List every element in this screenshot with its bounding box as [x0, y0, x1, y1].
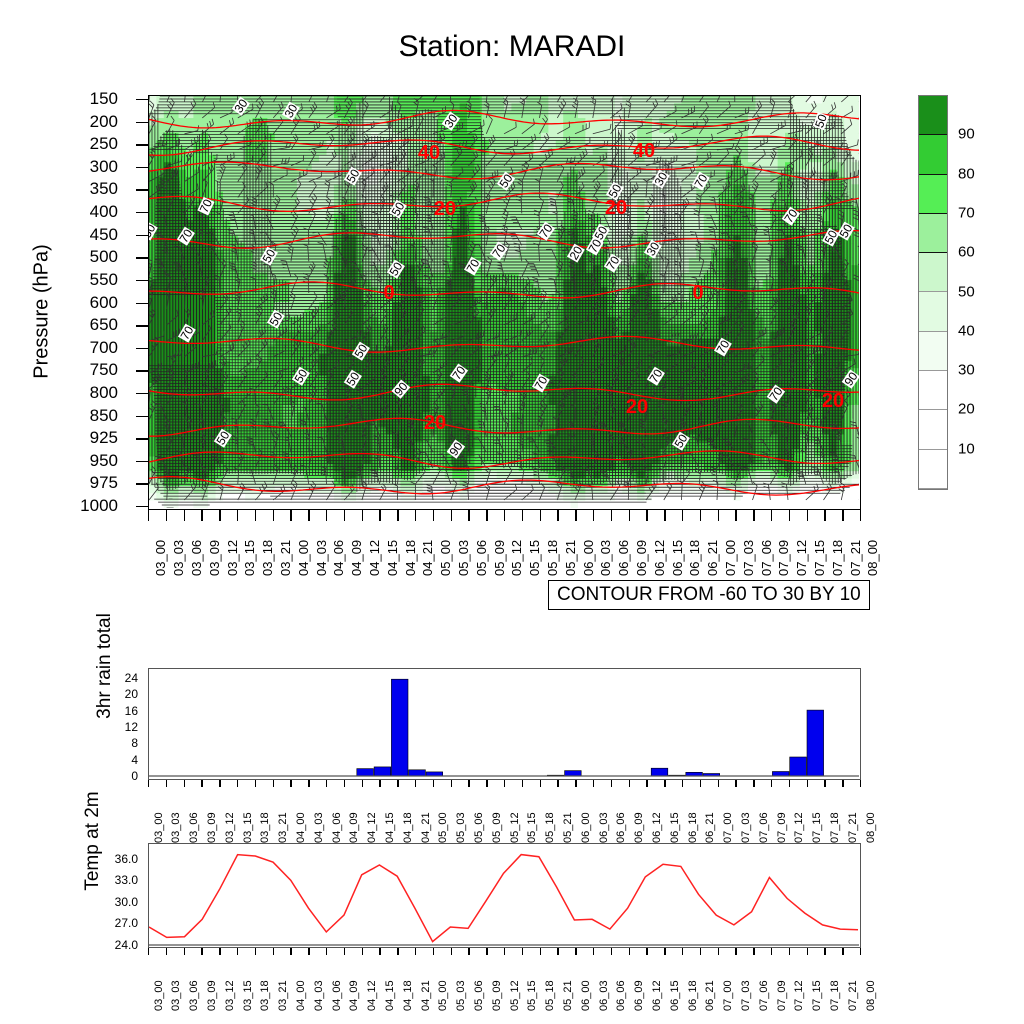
rain-canvas [149, 669, 859, 778]
x-tickmark [237, 510, 238, 521]
x-tickmark [771, 948, 772, 955]
x-axis-tick-label: 05_03 [455, 812, 467, 843]
x-tickmark [433, 948, 434, 955]
x-tickmark [326, 780, 327, 787]
y-axis-tick-label: 700 [60, 338, 118, 358]
contour-range-note: CONTOUR FROM -60 TO 30 BY 10 [548, 580, 870, 610]
x-axis-tick-label: 05_21 [562, 812, 574, 843]
colorbar-tick-label: 70 [958, 204, 975, 221]
x-axis-tick-label: 07_00 [722, 980, 734, 1011]
temperature-contour-label: 0 [691, 283, 704, 303]
x-axis-tick-label: 06_21 [704, 812, 716, 843]
x-tickmark [824, 510, 825, 521]
x-tickmark [664, 948, 665, 955]
main-x-tickmarks [148, 510, 861, 522]
x-tickmark [575, 948, 576, 955]
x-axis-tick-label: 04_18 [403, 540, 418, 576]
x-tickmark [646, 948, 647, 955]
x-tickmark [237, 780, 238, 787]
x-axis-tick-label: 07_00 [722, 812, 734, 843]
x-axis-tick-label: 07_09 [776, 980, 788, 1011]
colorbar-segment [919, 292, 947, 331]
x-axis-tick-label: 08_00 [865, 812, 877, 843]
x-axis-tick-label: 03_15 [242, 812, 254, 843]
x-axis-tick-label: 06_15 [670, 540, 685, 576]
x-axis-tick-label: 03_06 [188, 980, 200, 1011]
colorbar-tick-label: 40 [958, 322, 975, 339]
x-axis-tick-label: 04_21 [420, 812, 432, 843]
x-tickmark [753, 948, 754, 955]
x-axis-tick-label: 08_00 [865, 540, 880, 576]
x-tickmark [718, 510, 719, 521]
x-tickmark [326, 510, 327, 521]
x-tickmark [522, 510, 523, 521]
x-axis-tick-label: 05_21 [563, 540, 578, 576]
x-axis-tick-label: 04_00 [295, 980, 307, 1011]
x-tickmark [789, 780, 790, 787]
x-tickmark [664, 780, 665, 787]
x-axis-tick-label: 03_12 [224, 812, 236, 843]
x-axis-tick-label: 04_18 [402, 812, 414, 843]
x-tickmark [379, 780, 380, 787]
x-axis-tick-label: 05_09 [491, 980, 503, 1011]
x-axis-tick-label: 04_09 [349, 540, 364, 576]
y-tickmark [136, 506, 148, 507]
x-tickmark [629, 510, 630, 521]
x-tickmark [344, 780, 345, 787]
x-tickmark [700, 780, 701, 787]
x-tickmark [362, 780, 363, 787]
x-axis-tick-label: 03_03 [170, 812, 182, 843]
y-axis-tick-label: 200 [60, 112, 118, 132]
x-tickmark [842, 780, 843, 787]
x-axis-tick-label: 07_21 [847, 980, 859, 1011]
rain-y-axis-ticks: 04812162024 [100, 668, 138, 780]
x-tickmark [807, 948, 808, 955]
x-tickmark [468, 780, 469, 787]
x-axis-tick-label: 03_09 [206, 980, 218, 1011]
x-tickmark [451, 948, 452, 955]
x-axis-tick-label: 03_00 [153, 812, 165, 843]
colorbar-segment [919, 450, 947, 489]
x-tickmark [540, 780, 541, 787]
x-tickmark [379, 510, 380, 521]
y-axis-tick-label: 950 [60, 451, 118, 471]
x-tickmark [290, 948, 291, 955]
x-axis-tick-label: 05_12 [509, 812, 521, 843]
x-tickmark [148, 948, 149, 955]
x-tickmark [486, 510, 487, 521]
x-axis-tick-label: 06_21 [704, 980, 716, 1011]
x-tickmark [700, 510, 701, 521]
x-tickmark [273, 780, 274, 787]
x-axis-tick-label: 03_09 [207, 540, 222, 576]
x-axis-tick-label: 06_21 [705, 540, 720, 576]
x-axis-tick-label: 04_18 [402, 980, 414, 1011]
x-axis-tick-label: 04_06 [331, 812, 343, 843]
x-axis-tick-label: 07_15 [811, 812, 823, 843]
x-axis-tick-label: 06_12 [651, 980, 663, 1011]
x-axis-tick-label: 05_06 [473, 812, 485, 843]
x-axis-tick-label: 04_00 [296, 540, 311, 576]
y-tickmark [136, 189, 148, 190]
x-tickmark [415, 780, 416, 787]
x-tickmark [433, 780, 434, 787]
x-axis-tick-label: 05_06 [474, 540, 489, 576]
x-axis-tick-label: 06_06 [615, 812, 627, 843]
x-axis-tick-label: 07_03 [740, 812, 752, 843]
x-axis-tick-label: 04_03 [313, 812, 325, 843]
x-tickmark [486, 780, 487, 787]
y-axis-tick-label: 1000 [60, 496, 118, 516]
x-tickmark [397, 948, 398, 955]
x-axis-tick-label: 05_15 [526, 980, 538, 1011]
x-axis-tick-label: 03_00 [153, 980, 165, 1011]
x-axis-tick-label: 05_12 [509, 540, 524, 576]
x-axis-tick-label: 05_18 [545, 540, 560, 576]
x-axis-tick-label: 03_12 [225, 540, 240, 576]
x-tickmark [308, 948, 309, 955]
x-axis-tick-label: 07_12 [794, 540, 809, 576]
colorbar-segment [919, 371, 947, 410]
x-tickmark [201, 510, 202, 521]
y-axis-tick-label: 650 [60, 315, 118, 335]
x-axis-tick-label: 06_18 [687, 812, 699, 843]
y-axis-tick-label: 600 [60, 293, 118, 313]
x-axis-tick-label: 07_18 [829, 980, 841, 1011]
x-tickmark [451, 780, 452, 787]
x-axis-tick-label: 05_18 [544, 980, 556, 1011]
x-axis-tick-label: 07_09 [776, 540, 791, 576]
x-tickmark [735, 780, 736, 787]
x-axis-tick-label: 06_06 [615, 980, 627, 1011]
rain-y-tick-label: 12 [100, 720, 138, 734]
x-tickmark [504, 780, 505, 787]
x-axis-tick-label: 05_15 [527, 540, 542, 576]
x-tickmark [646, 780, 647, 787]
x-axis-tick-label: 04_15 [384, 812, 396, 843]
x-tickmark [148, 780, 149, 787]
x-tickmark [415, 510, 416, 521]
y-axis-tick-label: 300 [60, 157, 118, 177]
x-tickmark [718, 948, 719, 955]
x-axis-tick-label: 07_21 [847, 812, 859, 843]
x-axis-tick-label: 07_12 [793, 812, 805, 843]
x-axis-tick-label: 05_00 [437, 980, 449, 1011]
temp-y-tick-label: 33.0 [90, 873, 138, 887]
x-tickmark [290, 510, 291, 521]
x-tickmark [166, 510, 167, 521]
x-tickmark [504, 510, 505, 521]
rain-y-tick-label: 8 [100, 736, 138, 750]
page-title: Station: MARADI [0, 30, 1024, 64]
y-axis-tick-label: 250 [60, 134, 118, 154]
x-axis-tick-label: 03_18 [259, 812, 271, 843]
y-tickmark [136, 99, 148, 100]
x-tickmark [682, 510, 683, 521]
y-tickmark [136, 144, 148, 145]
x-axis-tick-label: 05_18 [544, 812, 556, 843]
x-axis-tick-label: 06_00 [581, 540, 596, 576]
y-axis-tick-label: 350 [60, 179, 118, 199]
colorbar-segment [919, 135, 947, 174]
rain-x-tickmarks [148, 780, 861, 790]
x-axis-tick-label: 06_06 [616, 540, 631, 576]
rain-y-tick-label: 4 [100, 753, 138, 767]
x-tickmark [522, 780, 523, 787]
x-tickmark [344, 948, 345, 955]
temperature-contour-label: 40 [417, 143, 441, 163]
x-tickmark [611, 780, 612, 787]
colorbar-tick-label: 50 [958, 283, 975, 300]
y-axis-tick-label: 450 [60, 225, 118, 245]
x-axis-tick-label: 07_18 [829, 812, 841, 843]
x-tickmark [308, 780, 309, 787]
x-tickmark [379, 948, 380, 955]
x-axis-tick-label: 07_00 [723, 540, 738, 576]
colorbar-segment [919, 96, 947, 135]
x-tickmark [557, 948, 558, 955]
x-axis-tick-label: 06_03 [598, 540, 613, 576]
temp-y-tick-label: 30.0 [90, 895, 138, 909]
x-tickmark [771, 510, 772, 521]
y-tickmark [136, 167, 148, 168]
y-tickmark [136, 416, 148, 417]
x-axis-tick-label: 07_06 [758, 980, 770, 1011]
y-tickmark [136, 325, 148, 326]
y-axis-tick-label: 800 [60, 383, 118, 403]
rain-y-tick-label: 20 [100, 687, 138, 701]
x-axis-tick-label: 07_21 [848, 540, 863, 576]
contour-canvas [149, 96, 859, 508]
x-tickmark [148, 510, 149, 521]
x-axis-tick-label: 07_03 [740, 980, 752, 1011]
x-tickmark [219, 780, 220, 787]
y-tickmark [136, 257, 148, 258]
rain-y-tick-label: 16 [100, 704, 138, 718]
y-axis-tick-label: 975 [60, 473, 118, 493]
x-tickmark [486, 948, 487, 955]
x-axis-tick-label: 08_00 [865, 980, 877, 1011]
x-tickmark [397, 780, 398, 787]
colorbar-segment [919, 175, 947, 214]
y-axis-tick-label: 850 [60, 406, 118, 426]
rain-bar-chart[interactable] [148, 668, 861, 780]
y-axis-tick-label: 500 [60, 247, 118, 267]
colorbar-segment [919, 253, 947, 292]
temperature-contour-label: 20 [423, 413, 447, 433]
x-tickmark [540, 510, 541, 521]
x-tickmark [611, 948, 612, 955]
x-tickmark [522, 948, 523, 955]
x-axis-tick-label: 07_12 [793, 980, 805, 1011]
x-axis-tick-label: 06_09 [633, 980, 645, 1011]
x-axis-tick-label: 04_12 [366, 812, 378, 843]
x-tickmark [184, 780, 185, 787]
x-tickmark [255, 948, 256, 955]
x-tickmark [166, 780, 167, 787]
y-tickmark [136, 348, 148, 349]
x-tickmark [807, 510, 808, 521]
x-tickmark [629, 780, 630, 787]
temp-line-chart[interactable] [148, 843, 861, 948]
x-axis-tick-label: 06_18 [687, 540, 702, 576]
x-axis-tick-label: 04_00 [295, 812, 307, 843]
temperature-contour-label: 40 [632, 141, 656, 161]
colorbar-tick-label: 90 [958, 126, 975, 143]
rain-x-axis-labels: 03_0003_0303_0603_0903_1203_1503_1803_21… [148, 791, 861, 843]
colorbar-segment [919, 332, 947, 371]
colorbar-tick-label: 30 [958, 362, 975, 379]
x-tickmark [860, 948, 861, 955]
x-axis-tick-label: 04_09 [348, 812, 360, 843]
y-axis-tick-label: 925 [60, 428, 118, 448]
y-tickmark [136, 122, 148, 123]
temp-y-axis-ticks: 24.027.030.033.036.0 [90, 843, 138, 948]
temperature-contour-label: 20 [625, 397, 649, 417]
x-axis-tick-label: 04_06 [331, 540, 346, 576]
x-tickmark [397, 510, 398, 521]
colorbar-segment [919, 214, 947, 253]
x-tickmark [593, 510, 594, 521]
x-axis-tick-label: 03_21 [277, 980, 289, 1011]
x-tickmark [789, 510, 790, 521]
x-axis-tick-label: 05_21 [562, 980, 574, 1011]
x-tickmark [842, 948, 843, 955]
temp-x-tickmarks [148, 948, 861, 958]
x-axis-tick-label: 06_15 [669, 812, 681, 843]
x-axis-tick-label: 07_18 [830, 540, 845, 576]
x-axis-tick-label: 06_03 [598, 812, 610, 843]
x-axis-tick-label: 07_15 [811, 980, 823, 1011]
x-tickmark [326, 948, 327, 955]
x-tickmark [593, 948, 594, 955]
x-axis-tick-label: 06_00 [580, 980, 592, 1011]
x-tickmark [290, 780, 291, 787]
x-axis-tick-label: 07_03 [741, 540, 756, 576]
x-tickmark [184, 948, 185, 955]
x-tickmark [344, 510, 345, 521]
x-tickmark [273, 948, 274, 955]
x-axis-tick-label: 03_03 [171, 540, 186, 576]
x-tickmark [718, 780, 719, 787]
x-tickmark [362, 948, 363, 955]
x-tickmark [682, 948, 683, 955]
x-tickmark [753, 780, 754, 787]
y-tickmark [136, 212, 148, 213]
x-axis-tick-label: 03_21 [278, 540, 293, 576]
main-x-axis-labels: 03_0003_0303_0603_0903_1203_1503_1803_21… [148, 524, 861, 582]
temperature-contour-label: 0 [382, 283, 395, 303]
x-axis-tick-label: 07_06 [758, 812, 770, 843]
x-axis-tick-label: 07_15 [812, 540, 827, 576]
temp-y-tick-label: 36.0 [90, 852, 138, 866]
x-tickmark [433, 510, 434, 521]
y-tickmark [136, 303, 148, 304]
x-axis-tick-label: 04_15 [384, 980, 396, 1011]
y-axis-tick-label: 150 [60, 89, 118, 109]
y-axis-tick-label: 550 [60, 270, 118, 290]
y-tickmark [136, 370, 148, 371]
x-tickmark [771, 780, 772, 787]
x-tickmark [415, 948, 416, 955]
x-axis-tick-label: 03_06 [188, 812, 200, 843]
colorbar[interactable] [918, 95, 948, 490]
x-axis-tick-label: 06_15 [669, 980, 681, 1011]
x-axis-tick-label: 03_06 [189, 540, 204, 576]
x-axis-tick-label: 07_09 [776, 812, 788, 843]
rain-y-tick-label: 24 [100, 671, 138, 685]
x-tickmark [255, 780, 256, 787]
temperature-contour-label: 20 [433, 199, 457, 219]
x-tickmark [700, 948, 701, 955]
x-axis-tick-label: 03_12 [224, 980, 236, 1011]
temperature-contour-label: 20 [604, 198, 628, 218]
x-axis-tick-label: 03_09 [206, 812, 218, 843]
y-tickmark [136, 393, 148, 394]
y-tickmark [136, 438, 148, 439]
x-tickmark [593, 780, 594, 787]
temp-y-tick-label: 24.0 [90, 938, 138, 952]
x-tickmark [842, 510, 843, 521]
x-tickmark [646, 510, 647, 521]
x-axis-tick-label: 05_00 [438, 540, 453, 576]
x-axis-tick-label: 05_03 [456, 540, 471, 576]
x-tickmark [807, 780, 808, 787]
x-axis-tick-label: 04_15 [385, 540, 400, 576]
x-tickmark [824, 948, 825, 955]
temp-y-tick-label: 27.0 [90, 916, 138, 930]
colorbar-tick-label: 20 [958, 401, 975, 418]
x-axis-tick-label: 06_03 [598, 980, 610, 1011]
x-axis-tick-label: 07_06 [759, 540, 774, 576]
main-contour-plot[interactable]: 5050503030305050307070705050507050507020… [148, 95, 861, 510]
x-axis-tick-label: 03_15 [242, 540, 257, 576]
x-tickmark [201, 948, 202, 955]
x-axis-tick-label: 06_18 [687, 980, 699, 1011]
y-axis-tick-label: 400 [60, 202, 118, 222]
x-tickmark [664, 510, 665, 521]
x-tickmark [468, 510, 469, 521]
x-axis-tick-label: 05_09 [492, 540, 507, 576]
x-tickmark [219, 948, 220, 955]
colorbar-tick-label: 80 [958, 165, 975, 182]
x-axis-tick-label: 05_09 [491, 812, 503, 843]
x-tickmark [540, 948, 541, 955]
x-tickmark [166, 948, 167, 955]
x-tickmark [504, 948, 505, 955]
x-axis-tick-label: 04_21 [420, 980, 432, 1011]
x-axis-tick-label: 03_18 [259, 980, 271, 1011]
x-axis-tick-label: 05_15 [526, 812, 538, 843]
x-axis-tick-label: 06_09 [633, 812, 645, 843]
x-axis-tick-label: 05_06 [473, 980, 485, 1011]
x-axis-tick-label: 04_12 [366, 980, 378, 1011]
x-tickmark [557, 510, 558, 521]
rain-y-tick-label: 0 [100, 769, 138, 783]
x-tickmark [184, 510, 185, 521]
x-axis-tick-label: 05_03 [455, 980, 467, 1011]
x-axis-tick-label: 04_09 [348, 980, 360, 1011]
x-tickmark [362, 510, 363, 521]
x-tickmark [575, 780, 576, 787]
x-axis-tick-label: 03_03 [170, 980, 182, 1011]
y-tickmark [136, 280, 148, 281]
x-tickmark [753, 510, 754, 521]
x-axis-tick-label: 04_03 [314, 540, 329, 576]
x-axis-tick-label: 05_12 [509, 980, 521, 1011]
colorbar-tick-label: 60 [958, 244, 975, 261]
